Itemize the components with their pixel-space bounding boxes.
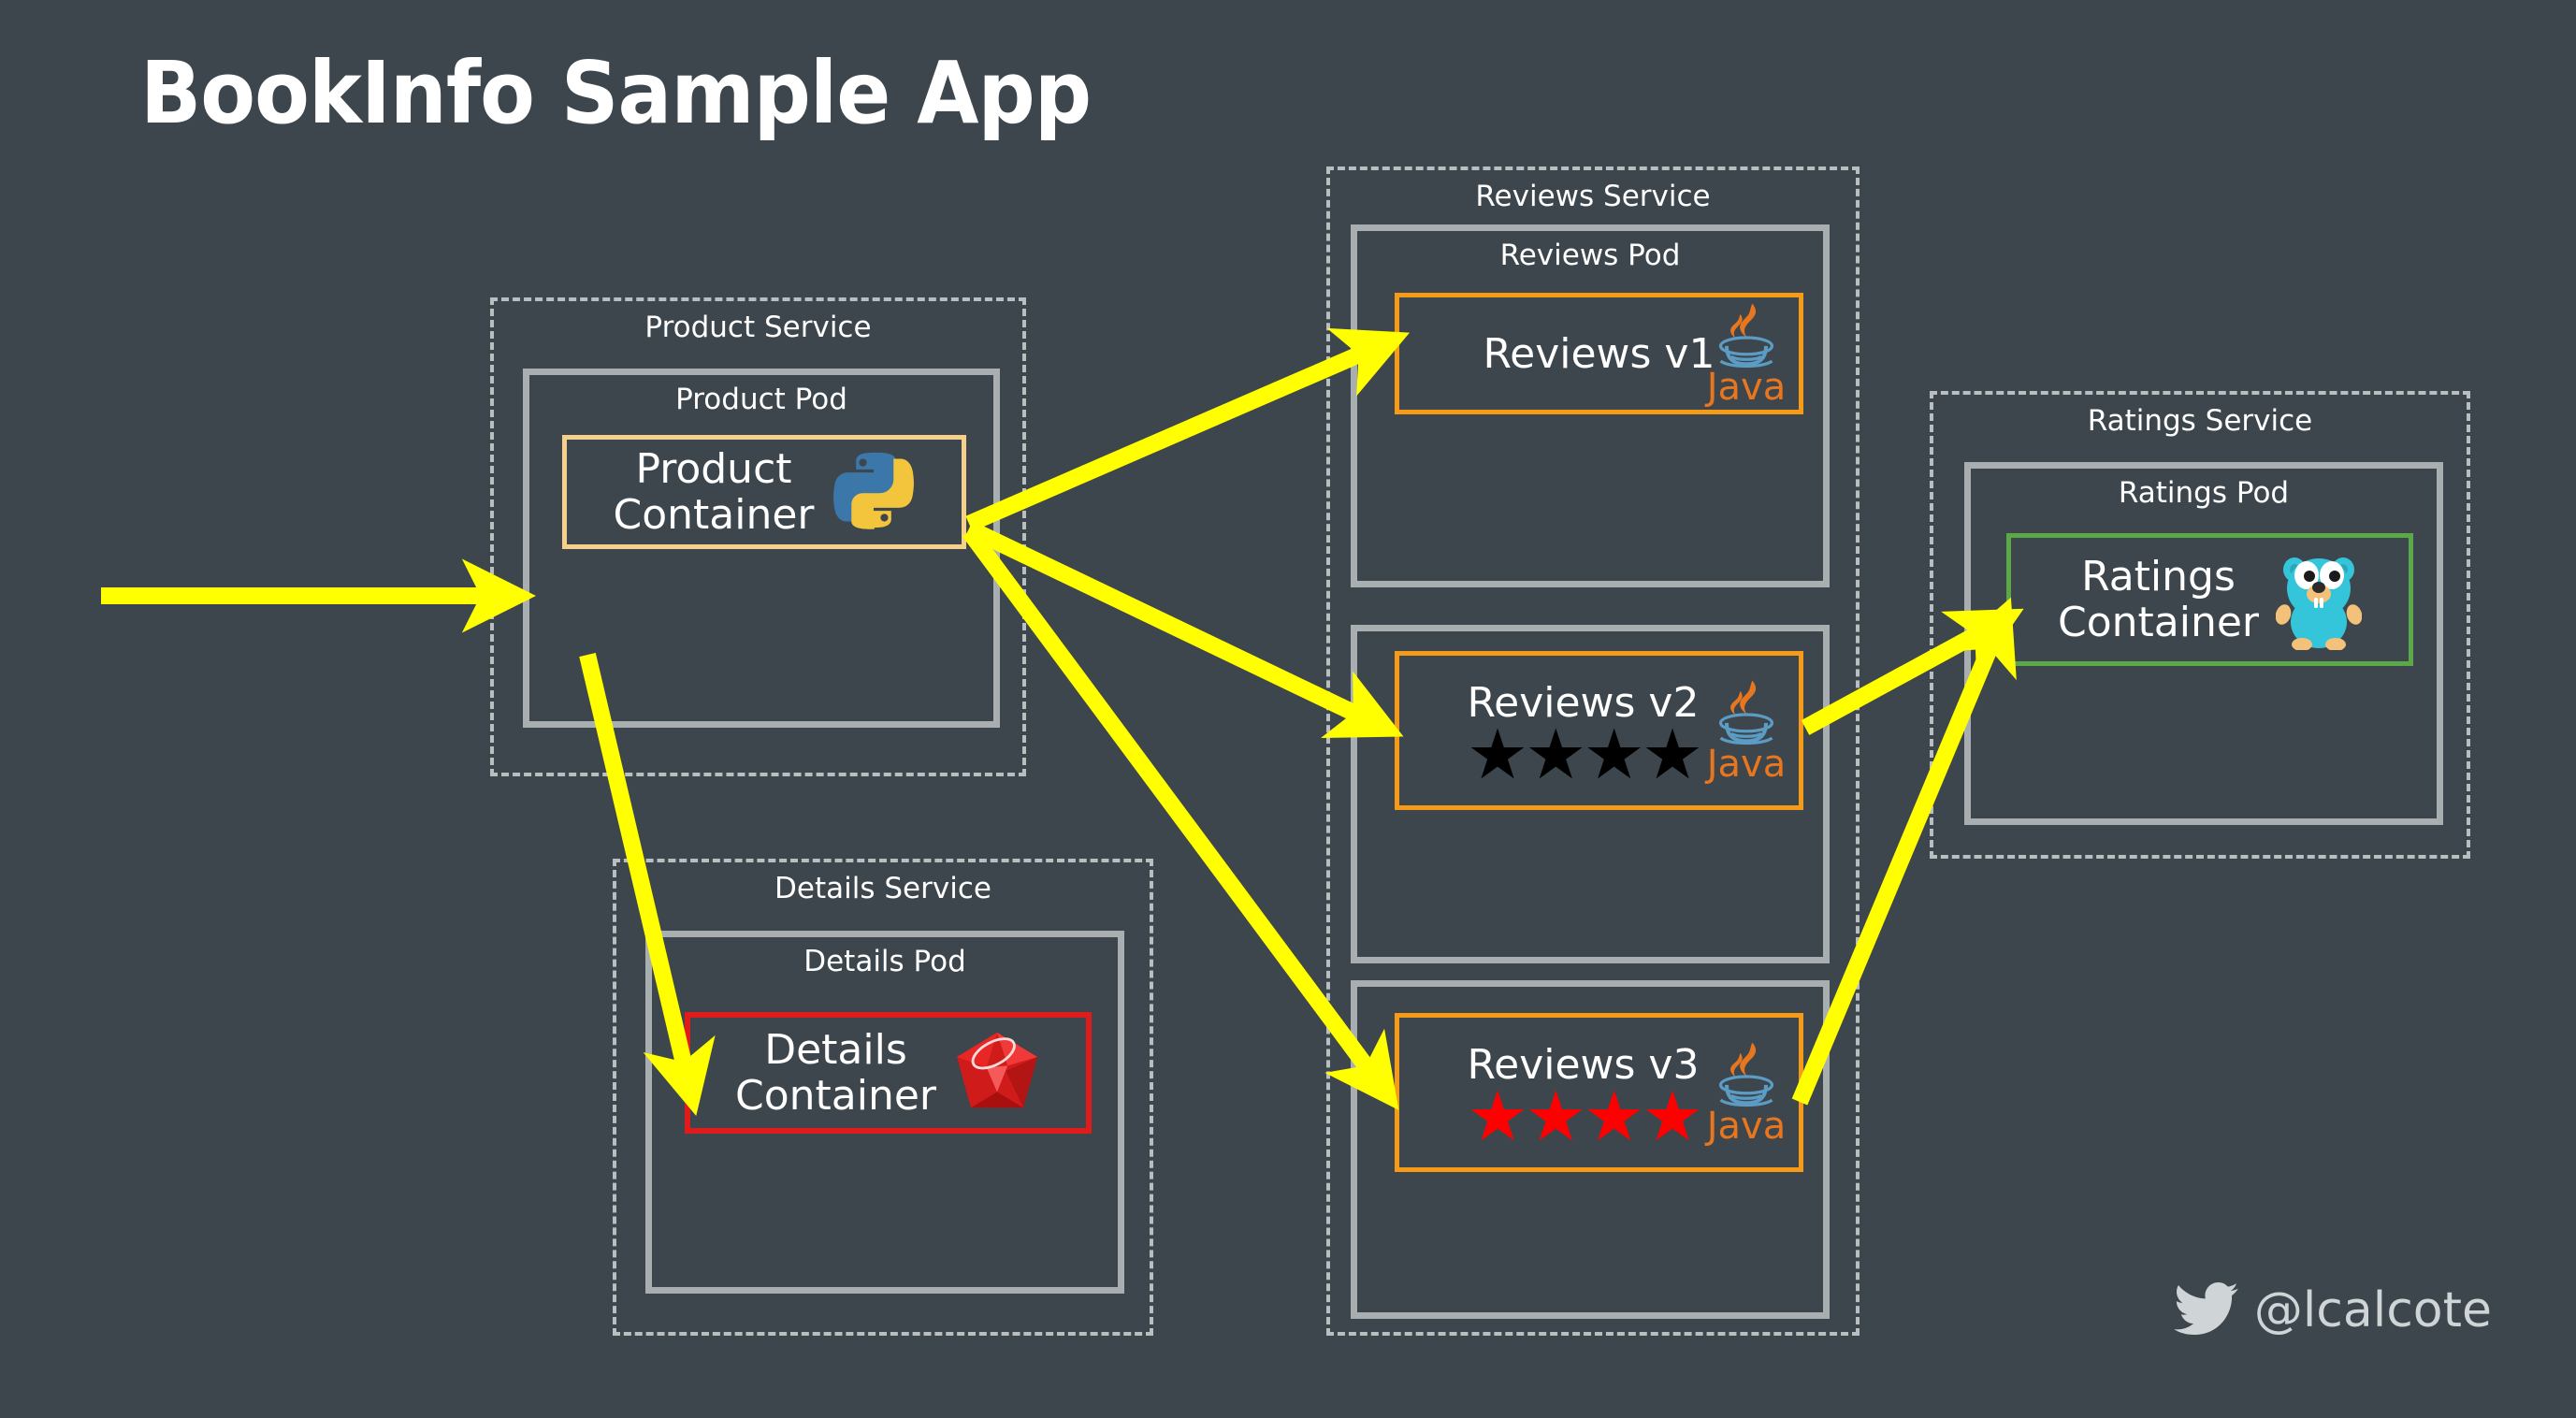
java-label: Java — [1707, 369, 1787, 405]
go-gopher-icon — [2276, 545, 2362, 654]
product-container-label: Product Container — [613, 446, 814, 539]
ratings-container-label: Ratings Container — [2058, 554, 2259, 646]
ruby-gem-icon — [953, 1031, 1041, 1115]
star-icon: ★ — [1467, 729, 1525, 783]
java-label: Java — [1707, 1108, 1787, 1144]
star-icon: ★ — [1584, 1091, 1642, 1145]
reviews-v1-label: Reviews v1 — [1483, 330, 1715, 378]
details-service-label: Details Service — [616, 872, 1150, 905]
twitter-bird-icon — [2174, 1281, 2239, 1339]
star-icon: ★ — [1525, 729, 1583, 783]
ratings-service-label: Ratings Service — [1933, 404, 2467, 438]
twitter-handle[interactable]: @lcalcote — [2174, 1281, 2492, 1339]
reviews-v3-container-box[interactable]: Reviews v3 ★ ★ ★ ★ — [1395, 1013, 1803, 1172]
ratings-container-box[interactable]: Ratings Container — [2006, 533, 2413, 666]
star-icon: ★ — [1642, 1091, 1700, 1145]
reviews-v2-container-box[interactable]: Reviews v2 ★ ★ ★ ★ — [1395, 651, 1803, 810]
product-to-reviews-v2-arrow — [969, 528, 1373, 722]
python-logo-icon — [832, 448, 916, 536]
twitter-handle-text: @lcalcote — [2254, 1282, 2492, 1338]
java-logo-icon: Java — [1701, 302, 1791, 405]
star-icon: ★ — [1525, 1091, 1583, 1145]
page-title: BookInfo Sample App — [140, 43, 1091, 143]
details-pod-label: Details Pod — [652, 945, 1118, 978]
reviews-v3-star-rating: ★ ★ ★ ★ — [1467, 1091, 1700, 1145]
details-container-label: Details Container — [735, 1027, 936, 1120]
star-icon: ★ — [1584, 729, 1642, 783]
reviews-service-label: Reviews Service — [1330, 180, 1856, 213]
reviews-pod-label: Reviews Pod — [1357, 239, 1823, 272]
product-pod-label: Product Pod — [529, 383, 993, 416]
star-icon: ★ — [1467, 1091, 1525, 1145]
diagram-canvas: BookInfo Sample App Product Service Prod… — [0, 0, 2576, 1418]
java-logo-icon: Java — [1701, 1041, 1791, 1144]
product-container-box[interactable]: Product Container — [562, 435, 966, 549]
product-to-reviews-v1-arrow — [969, 346, 1379, 524]
ratings-pod-label: Ratings Pod — [1971, 476, 2437, 510]
java-logo-icon: Java — [1701, 679, 1791, 782]
details-container-box[interactable]: Details Container — [685, 1012, 1092, 1134]
star-icon: ★ — [1642, 729, 1700, 783]
reviews-v1-container-box[interactable]: Reviews v1 Java — [1395, 293, 1803, 414]
reviews-v2-star-rating: ★ ★ ★ ★ — [1467, 729, 1700, 783]
product-service-label: Product Service — [494, 311, 1022, 344]
java-label: Java — [1707, 746, 1787, 782]
